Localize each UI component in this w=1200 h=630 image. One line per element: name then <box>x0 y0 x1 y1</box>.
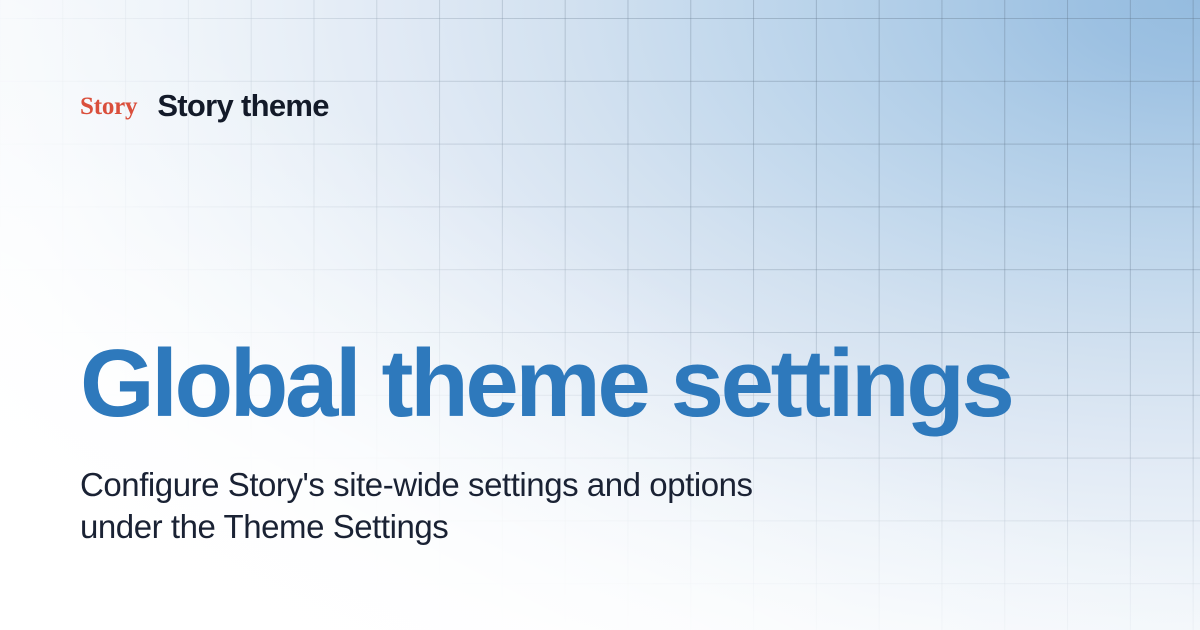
og-card: Story Story theme Global theme settings … <box>0 0 1200 630</box>
brand-title: Story theme <box>157 90 328 121</box>
card-content: Story Story theme Global theme settings … <box>0 0 1200 630</box>
hero-block: Global theme settings Configure Story's … <box>80 336 1120 547</box>
page-subtitle: Configure Story's site-wide settings and… <box>80 432 800 547</box>
page-title: Global theme settings <box>80 336 1120 432</box>
brand-header: Story Story theme <box>80 84 329 126</box>
story-logo-icon: Story <box>80 94 137 119</box>
